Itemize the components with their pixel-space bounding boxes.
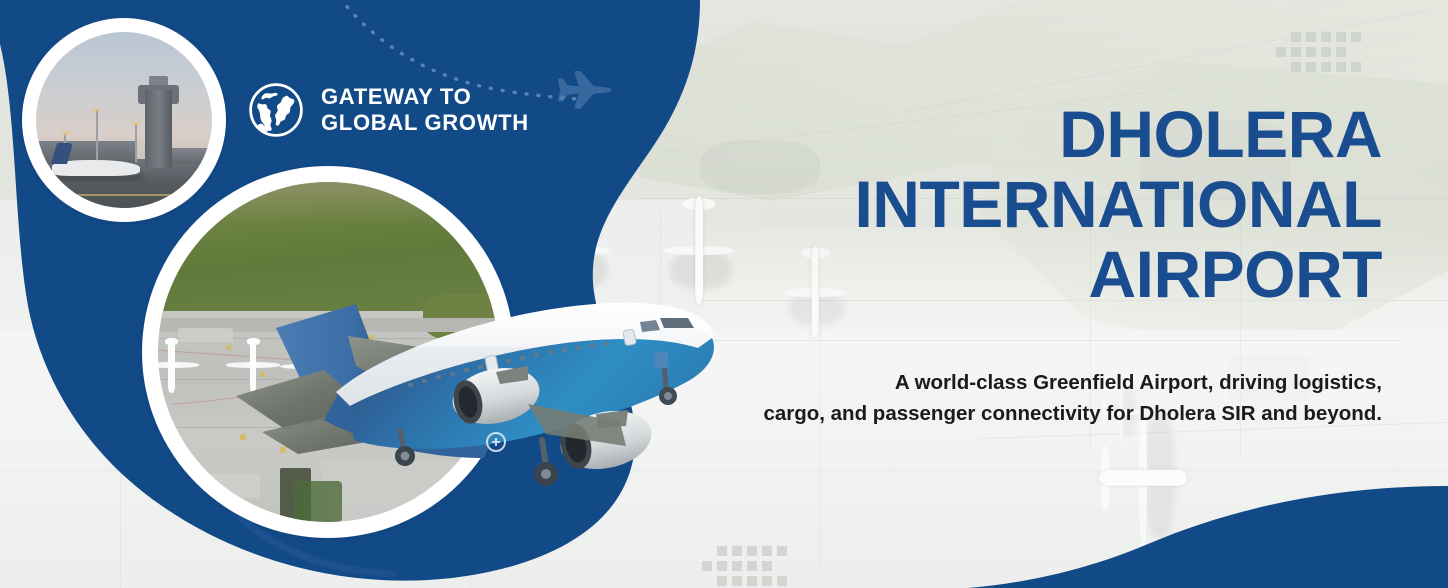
- plane-silhouette-icon: [552, 70, 614, 112]
- page-title-line2: INTERNATIONAL: [662, 170, 1382, 240]
- page-title-line1: DHOLERA: [662, 100, 1382, 170]
- hero-banner: GATEWAY TO GLOBAL GROWTH: [0, 0, 1448, 588]
- page-title-line3: AIRPORT: [662, 240, 1382, 310]
- page-title: DHOLERA INTERNATIONAL AIRPORT: [662, 100, 1382, 310]
- globe-icon: [248, 82, 304, 138]
- brand-tagline-line1: GATEWAY TO: [321, 84, 471, 109]
- brand-tagline: GATEWAY TO GLOBAL GROWTH: [321, 84, 529, 135]
- page-subtitle-line1: A world-class Greenfield Airport, drivin…: [622, 368, 1382, 399]
- brand-lockup: GATEWAY TO GLOBAL GROWTH: [248, 82, 529, 138]
- page-subtitle: A world-class Greenfield Airport, drivin…: [622, 368, 1382, 430]
- page-subtitle-line2: cargo, and passenger connectivity for Dh…: [622, 399, 1382, 430]
- brand-tagline-line2: GLOBAL GROWTH: [321, 110, 529, 136]
- decorative-dot-grid-top-right: [1276, 32, 1361, 72]
- decorative-bottom-wave: [928, 468, 1448, 588]
